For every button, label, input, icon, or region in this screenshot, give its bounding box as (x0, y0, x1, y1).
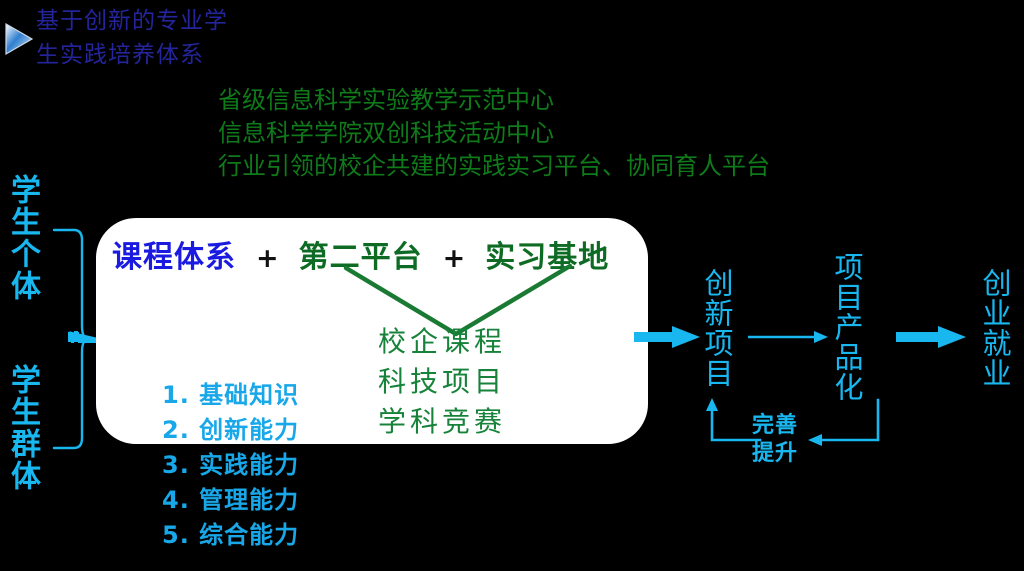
ability-list: 1. 基础知识 2. 创新能力 3. 实践能力 4. 管理能力 5. 综合能力 (162, 378, 299, 553)
label-innovation-project: 创新项目 (700, 268, 733, 388)
label-product-commercialization: 项目产品化 (830, 252, 863, 402)
green-activity-item-1: 校企课程 (378, 322, 506, 362)
highlight-line-3: 行业引领的校企共建的实践实习平台、协同育人平台 (218, 150, 770, 183)
green-activity-list: 校企课程 科技项目 学科竞赛 (378, 322, 506, 442)
green-activity-item-3: 学科竞赛 (378, 402, 506, 442)
arrow-right-icon (634, 322, 700, 352)
ability-item-5: 5. 综合能力 (162, 518, 299, 553)
ability-item-1: 1. 基础知识 (162, 378, 299, 413)
slide-canvas: 基于创新的专业学 生实践培养体系 省级信息科学实验教学示范中心 信息科学学院双创… (0, 0, 1024, 571)
arrow-right-icon (896, 322, 966, 352)
label-feedback-improve: 完善 提升 (752, 412, 798, 468)
label-course-system: 课程体系 (112, 232, 236, 276)
label-entrepreneurship-employment: 创业就业 (978, 268, 1011, 388)
green-activity-item-2: 科技项目 (378, 362, 506, 402)
arrow-right-thin-icon (748, 328, 828, 346)
label-student-individual: 学生个体 (6, 174, 38, 302)
highlight-line-2: 信息科学学院双创科技活动中心 (218, 117, 770, 150)
ability-item-4: 4. 管理能力 (162, 483, 299, 518)
ability-item-2: 2. 创新能力 (162, 413, 299, 448)
highlight-list: 省级信息科学实验教学示范中心 信息科学学院双创科技活动中心 行业引领的校企共建的… (218, 84, 770, 183)
label-student-group: 学生群体 (6, 364, 38, 492)
plus-sign-1: + (250, 243, 285, 274)
highlight-line-1: 省级信息科学实验教学示范中心 (218, 84, 770, 117)
page-title: 基于创新的专业学 生实践培养体系 (36, 4, 456, 72)
triangle-right-icon (4, 22, 34, 56)
ability-item-3: 3. 实践能力 (162, 448, 299, 483)
